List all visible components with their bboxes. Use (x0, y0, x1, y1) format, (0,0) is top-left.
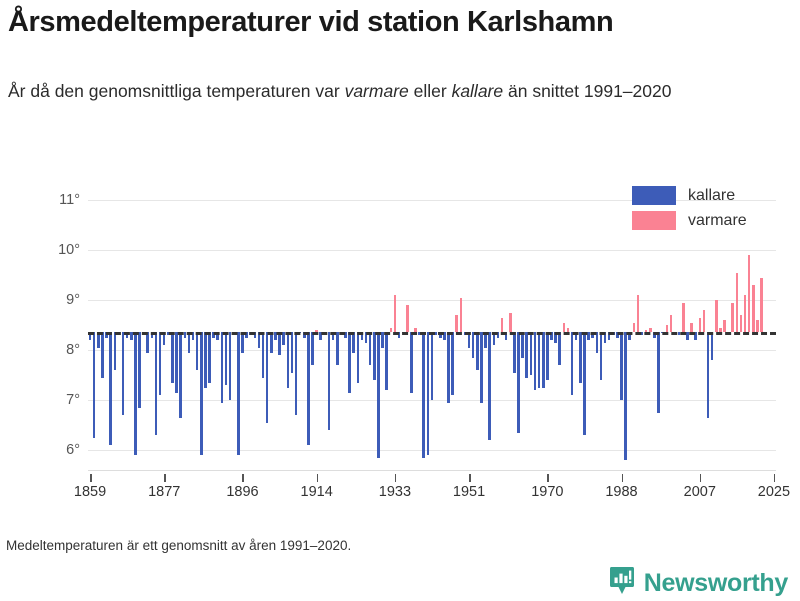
bar[interactable] (287, 332, 290, 388)
bar[interactable] (451, 332, 454, 395)
bar[interactable] (707, 332, 710, 418)
bar[interactable] (447, 332, 450, 403)
bar[interactable] (159, 332, 162, 395)
chart-subtitle: År då den genomsnittliga temperaturen va… (8, 78, 778, 104)
bar[interactable] (208, 332, 211, 383)
bar[interactable] (291, 332, 294, 373)
bar[interactable] (488, 332, 491, 440)
subtitle-part-3: än snittet 1991–2020 (503, 81, 671, 101)
bar[interactable] (278, 332, 281, 355)
bar[interactable] (427, 332, 430, 455)
bar[interactable] (138, 332, 141, 408)
bar[interactable] (666, 325, 669, 332)
subtitle-part-1: År då den genomsnittliga temperaturen va… (8, 81, 345, 101)
bar[interactable] (744, 295, 747, 332)
subtitle-emphasis-kallare: kallare (452, 81, 504, 101)
footnote: Medeltemperaturen är ett genomsnitt av å… (6, 538, 351, 553)
bar[interactable] (715, 300, 718, 332)
bar[interactable] (579, 332, 582, 383)
legend-label-kallare: kallare (688, 187, 735, 205)
bar[interactable] (377, 332, 380, 458)
bar[interactable] (521, 332, 524, 358)
x-axis-tick-mark (90, 474, 92, 482)
x-axis-tick-mark (547, 474, 549, 482)
bar[interactable] (348, 332, 351, 393)
bar[interactable] (517, 332, 520, 433)
bar[interactable] (596, 332, 599, 353)
bar[interactable] (740, 315, 743, 332)
bar[interactable] (736, 273, 739, 333)
x-axis: 1859187718961914193319511970198820072025 (88, 470, 776, 500)
x-axis-tick-mark (622, 474, 624, 482)
bar[interactable] (262, 332, 265, 378)
bar[interactable] (352, 332, 355, 353)
bar[interactable] (501, 318, 504, 333)
y-axis-tick-label: 6° (28, 442, 80, 458)
bar[interactable] (101, 332, 104, 378)
x-axis-tick-label: 2025 (758, 484, 790, 500)
bar[interactable] (690, 323, 693, 333)
bar[interactable] (266, 332, 269, 423)
bar[interactable] (657, 332, 660, 413)
legend-label-varmare: varmare (688, 212, 747, 230)
bar[interactable] (373, 332, 376, 380)
bar[interactable] (200, 332, 203, 455)
x-axis-tick-label: 1877 (148, 484, 180, 500)
bar[interactable] (155, 332, 158, 435)
bar-chart-speech-bubble-icon (609, 566, 635, 601)
bar[interactable] (509, 313, 512, 333)
bar[interactable] (542, 332, 545, 388)
bar[interactable] (480, 332, 483, 403)
bar[interactable] (460, 298, 463, 333)
bar[interactable] (237, 332, 240, 455)
bar[interactable] (146, 332, 149, 353)
bar[interactable] (563, 323, 566, 333)
bar[interactable] (760, 278, 763, 333)
bar[interactable] (431, 332, 434, 400)
bar[interactable] (241, 332, 244, 353)
x-axis-tick-label: 1970 (531, 484, 563, 500)
legend-item-varmare[interactable]: varmare (632, 211, 747, 230)
brand-logo[interactable]: Newsworthy (609, 566, 788, 601)
x-axis-tick-label: 1859 (74, 484, 106, 500)
y-axis-tick-label: 10° (28, 242, 80, 258)
bar[interactable] (188, 332, 191, 353)
bar[interactable] (703, 310, 706, 332)
bar[interactable] (204, 332, 207, 388)
bar[interactable] (534, 332, 537, 390)
legend-item-kallare[interactable]: kallare (632, 186, 747, 205)
bar[interactable] (513, 332, 516, 373)
baseline-reference-line (88, 332, 776, 335)
x-axis-tick-mark (164, 474, 166, 482)
page-title: Årsmedeltemperaturer vid station Karlsha… (8, 6, 794, 38)
bar[interactable] (748, 255, 751, 332)
bar[interactable] (422, 332, 425, 458)
bar[interactable] (179, 332, 182, 418)
bar[interactable] (472, 332, 475, 358)
y-axis-tick-label: 11° (28, 192, 80, 208)
subtitle-emphasis-varmare: varmare (345, 81, 409, 101)
bar[interactable] (311, 332, 314, 365)
x-axis-tick-mark (317, 474, 319, 482)
x-axis-tick-mark (469, 474, 471, 482)
y-axis-tick-label: 8° (28, 342, 80, 358)
bar[interactable] (546, 332, 549, 380)
x-axis-tick-label: 1914 (301, 484, 333, 500)
x-axis-tick-mark (242, 474, 244, 482)
legend-swatch-varmare (632, 211, 676, 230)
legend-swatch-kallare (632, 186, 676, 205)
bar[interactable] (633, 323, 636, 333)
bar[interactable] (583, 332, 586, 435)
x-axis-tick-label: 1896 (226, 484, 258, 500)
bar[interactable] (307, 332, 310, 445)
y-axis-tick-label: 7° (28, 392, 80, 408)
bar[interactable] (175, 332, 178, 393)
bar[interactable] (229, 332, 232, 400)
x-axis-tick-mark (395, 474, 397, 482)
bar[interactable] (357, 332, 360, 383)
bar[interactable] (385, 332, 388, 390)
bar[interactable] (394, 295, 397, 332)
bar[interactable] (525, 332, 528, 378)
bar[interactable] (328, 332, 331, 430)
bar[interactable] (571, 332, 574, 395)
bar[interactable] (600, 332, 603, 380)
brand-wordmark: Newsworthy (644, 569, 788, 598)
bar[interactable] (711, 332, 714, 360)
bar[interactable] (336, 332, 339, 365)
bar[interactable] (624, 332, 627, 460)
bar[interactable] (620, 332, 623, 400)
x-axis-tick-label: 2007 (684, 484, 716, 500)
bar[interactable] (122, 332, 125, 415)
bar[interactable] (406, 305, 409, 332)
bar[interactable] (196, 332, 199, 370)
bar[interactable] (369, 332, 372, 365)
bar[interactable] (756, 320, 759, 332)
x-axis-tick-label: 1951 (453, 484, 485, 500)
bar[interactable] (109, 332, 112, 445)
bar[interactable] (530, 332, 533, 375)
x-axis-tick-mark (774, 474, 776, 482)
bar[interactable] (752, 285, 755, 332)
y-axis-tick-label: 9° (28, 292, 80, 308)
legend: kallare varmare (632, 186, 747, 230)
bar[interactable] (637, 295, 640, 332)
bar[interactable] (558, 332, 561, 365)
bar[interactable] (731, 303, 734, 333)
bar[interactable] (221, 332, 224, 403)
bar[interactable] (225, 332, 228, 385)
bar[interactable] (134, 332, 137, 455)
x-axis-tick-mark (700, 474, 702, 482)
bar[interactable] (699, 318, 702, 333)
bar[interactable] (114, 332, 117, 370)
bar[interactable] (682, 303, 685, 333)
bar[interactable] (476, 332, 479, 370)
bar[interactable] (295, 332, 298, 415)
y-axis: 6°7°8°9°10°11° (20, 185, 80, 470)
bar[interactable] (538, 332, 541, 388)
bar[interactable] (455, 315, 458, 332)
bar[interactable] (93, 332, 96, 438)
bar[interactable] (670, 315, 673, 332)
subtitle-part-2: eller (409, 81, 452, 101)
x-axis-tick-label: 1933 (379, 484, 411, 500)
x-axis-tick-label: 1988 (605, 484, 637, 500)
bar[interactable] (723, 320, 726, 332)
bar[interactable] (410, 332, 413, 393)
bar[interactable] (270, 332, 273, 353)
bar[interactable] (171, 332, 174, 383)
